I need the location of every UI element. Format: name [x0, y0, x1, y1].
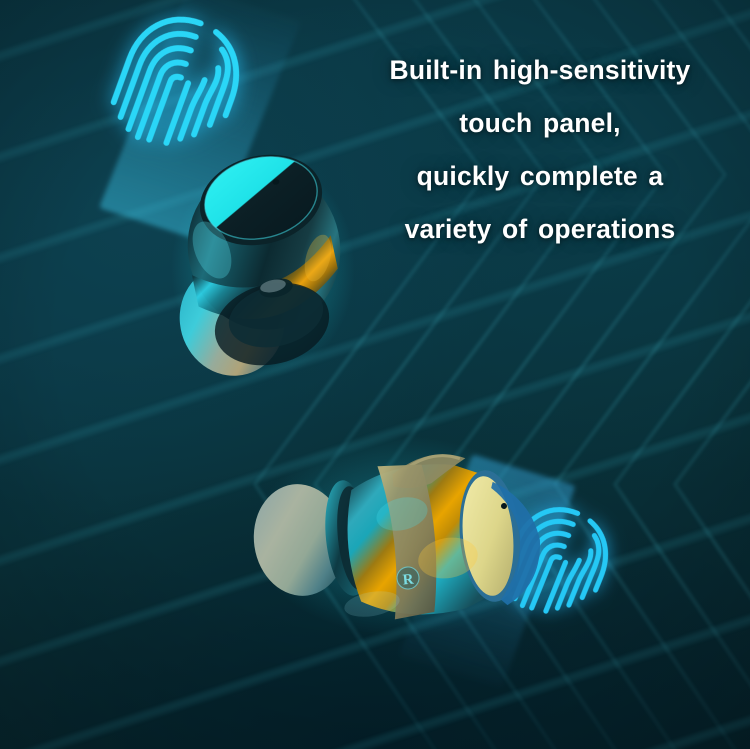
earbud-bottom: R — [252, 418, 552, 648]
product-banner-stage: R Built-in high-sensitivity touch panel,… — [0, 0, 750, 749]
headline-line-1: Built-in high-sensitivity — [352, 44, 728, 97]
headline-line-2: touch panel, — [352, 97, 728, 150]
headline-line-3: quickly complete a — [352, 150, 728, 203]
headline-text: Built-in high-sensitivity touch panel, q… — [352, 44, 728, 256]
earbud-top — [168, 138, 358, 388]
earbud-r-marking: R — [402, 572, 414, 589]
headline-line-4: variety of operations — [352, 203, 728, 256]
